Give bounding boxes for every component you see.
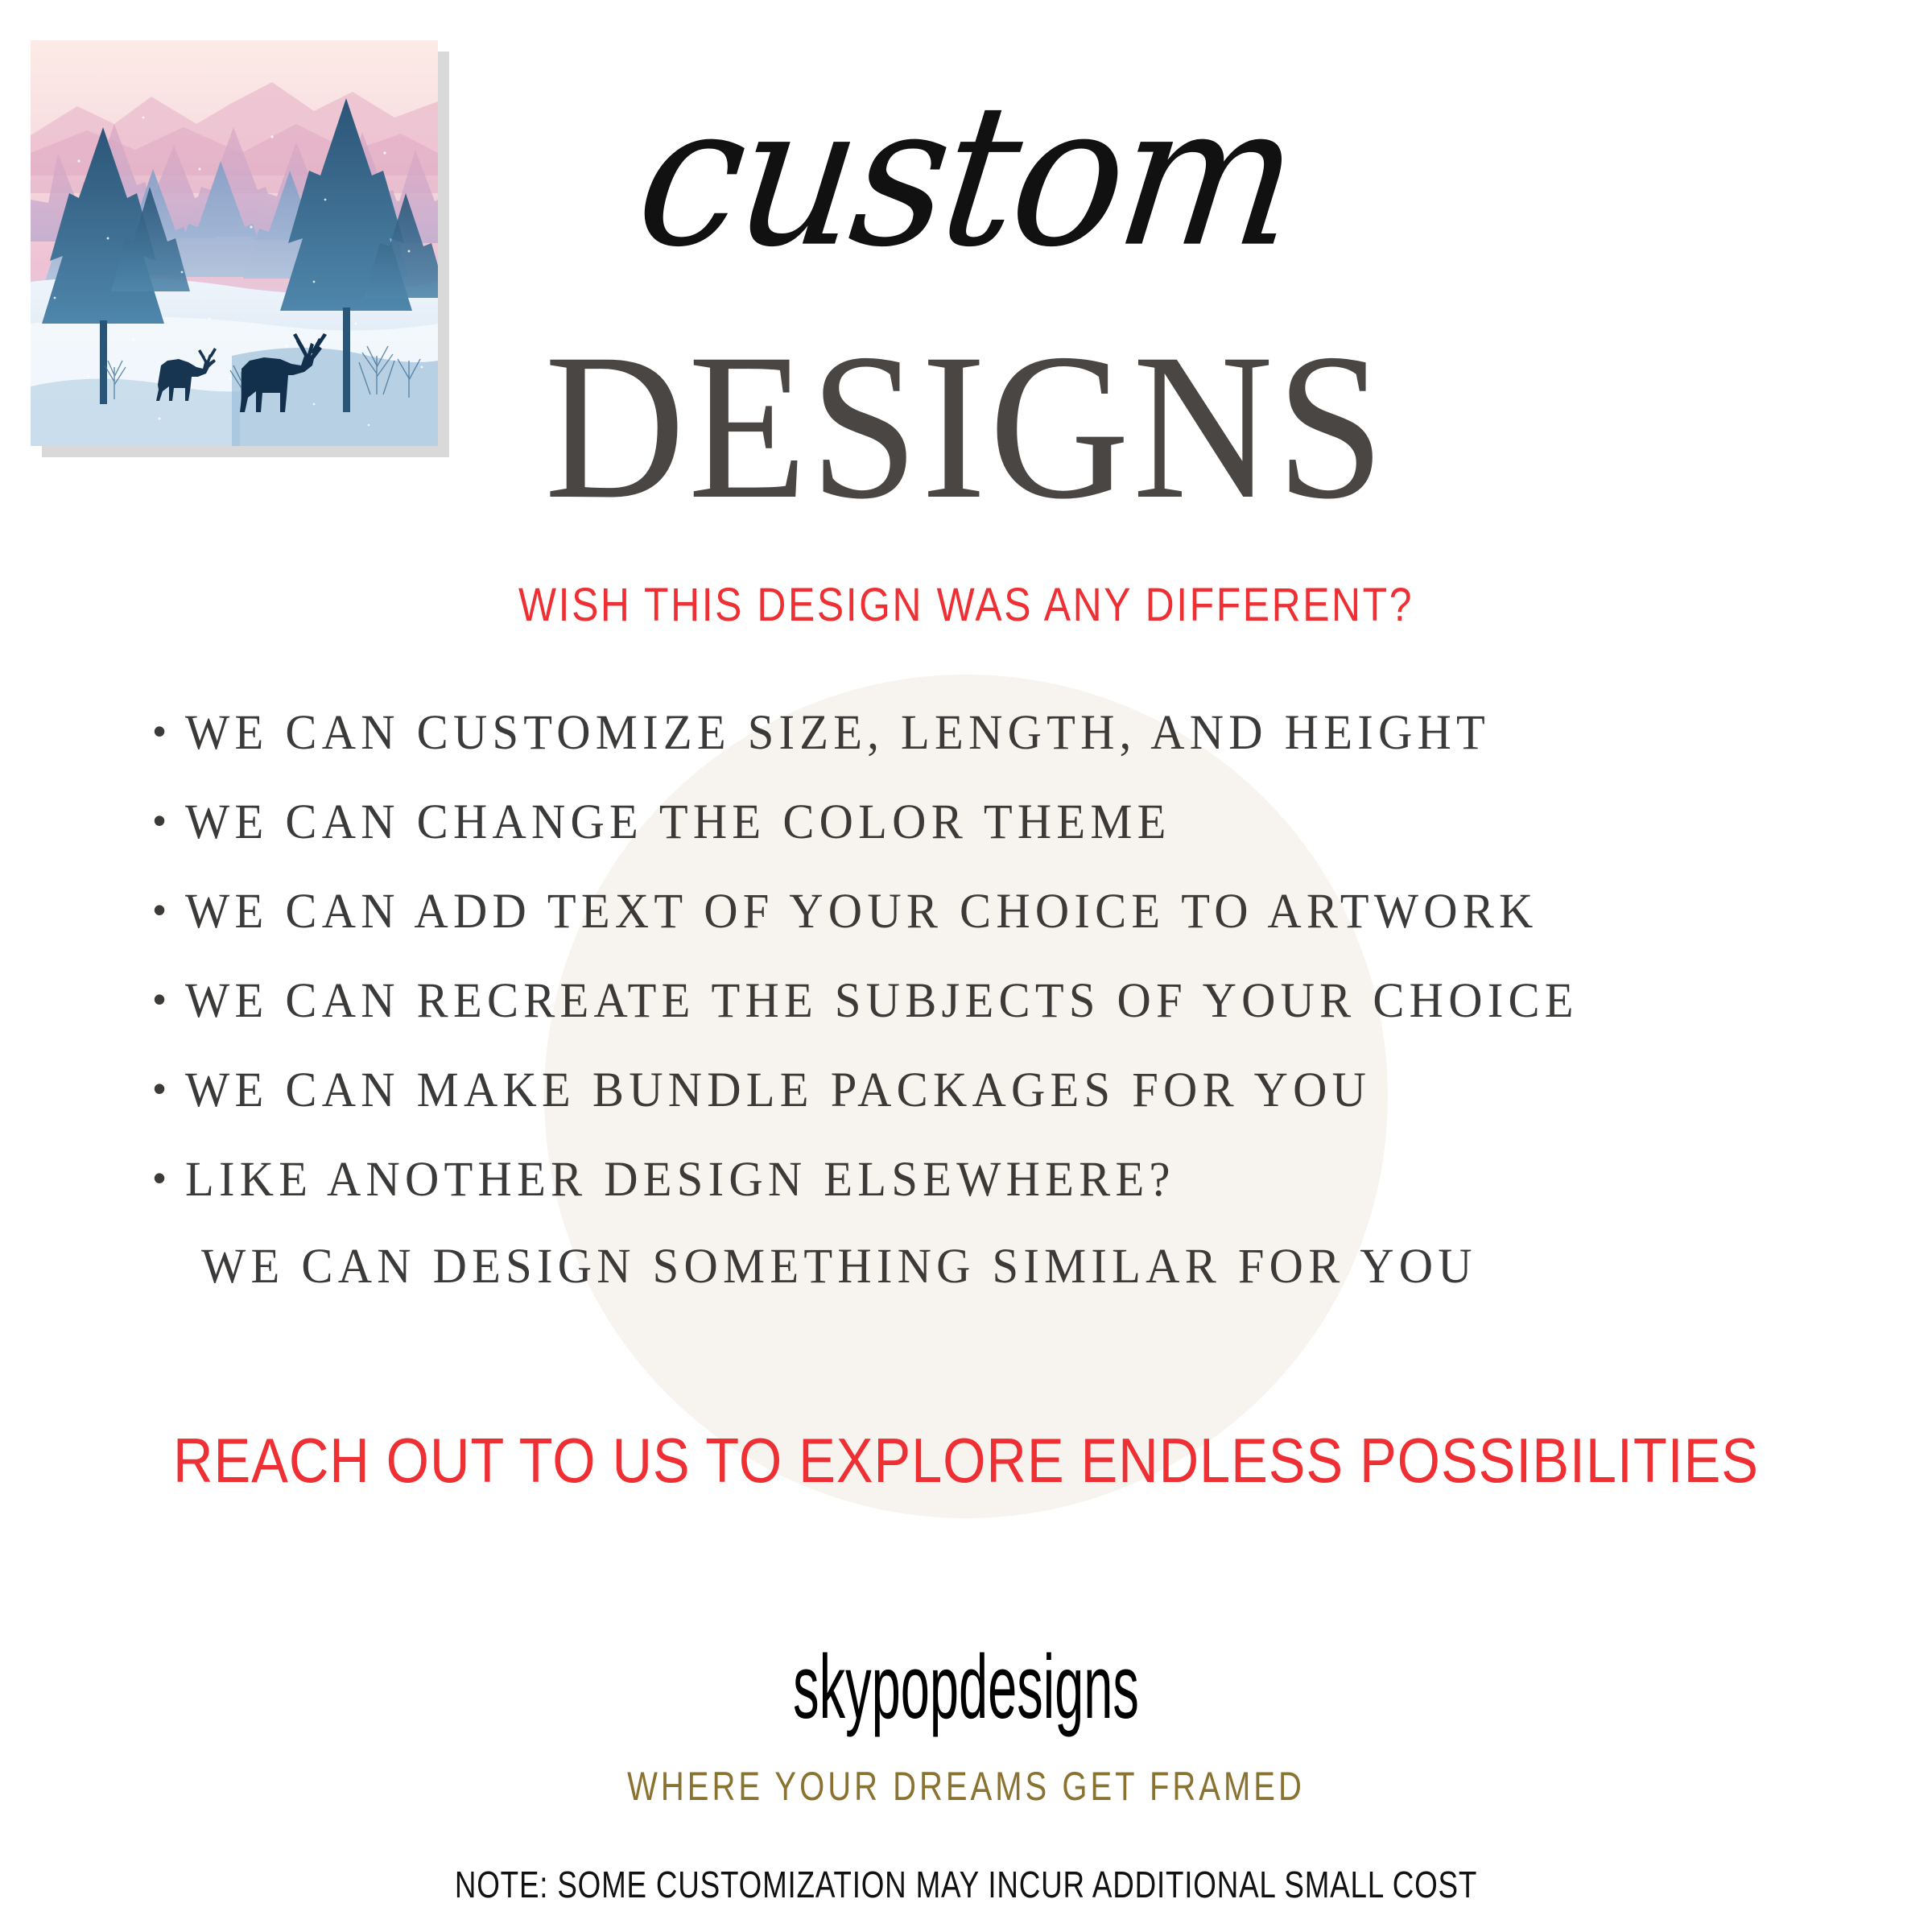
list-item-continuation-label: WE CAN DESIGN SOMETHING SIMILAR FOR YOU <box>201 1242 1477 1291</box>
list-item: • LIKE ANOTHER DESIGN ELSEWHERE? <box>153 1155 1827 1245</box>
list-item: • WE CAN RECREATE THE SUBJECTS OF YOUR C… <box>153 976 1827 1066</box>
list-item-label: WE CAN RECREATE THE SUBJECTS OF YOUR CHO… <box>185 976 1579 1026</box>
list-item: • WE CAN CHANGE THE COLOR THEME <box>153 798 1827 887</box>
brand-tagline: WHERE YOUR DREAMS GET FRAMED <box>193 1766 1739 1806</box>
list-item: • WE CAN MAKE BUNDLE PACKAGES FOR YOU <box>153 1066 1827 1155</box>
list-item-label: WE CAN ADD TEXT OF YOUR CHOICE TO ARTWOR… <box>185 887 1538 936</box>
script-headline-custom: custom <box>0 79 1932 275</box>
list-item-label: WE CAN CHANGE THE COLOR THEME <box>185 798 1171 847</box>
subtitle-question: WISH THIS DESIGN WAS ANY DIFFERENT? <box>135 582 1797 629</box>
list-item: • WE CAN ADD TEXT OF YOUR CHOICE TO ARTW… <box>153 887 1827 976</box>
disclaimer-note: NOTE: SOME CUSTOMIZATION MAY INCUR ADDIT… <box>193 1866 1739 1903</box>
call-to-action-text: REACH OUT TO US TO EXPLORE ENDLESS POSSI… <box>116 1429 1816 1492</box>
bullet-dot-icon: • <box>153 712 185 749</box>
brand-wordmark: skypopdesigns <box>406 1642 1526 1732</box>
bullet-dot-icon: • <box>153 891 185 928</box>
list-item-label: WE CAN MAKE BUNDLE PACKAGES FOR YOU <box>185 1066 1371 1115</box>
page-title-designs: DESIGNS <box>68 322 1864 531</box>
bullet-dot-icon: • <box>153 980 185 1018</box>
bullet-dot-icon: • <box>153 1070 185 1107</box>
capabilities-list: • WE CAN CUSTOMIZE SIZE, LENGTH, AND HEI… <box>153 708 1827 1245</box>
list-item-label: LIKE ANOTHER DESIGN ELSEWHERE? <box>185 1155 1175 1204</box>
poster-canvas: custom DESIGNS WISH THIS DESIGN WAS ANY … <box>0 0 1932 1932</box>
list-item-label: WE CAN CUSTOMIZE SIZE, LENGTH, AND HEIGH… <box>185 708 1490 758</box>
bullet-dot-icon: • <box>153 802 185 839</box>
bullet-dot-icon: • <box>153 1159 185 1196</box>
list-item: • WE CAN CUSTOMIZE SIZE, LENGTH, AND HEI… <box>153 708 1827 798</box>
